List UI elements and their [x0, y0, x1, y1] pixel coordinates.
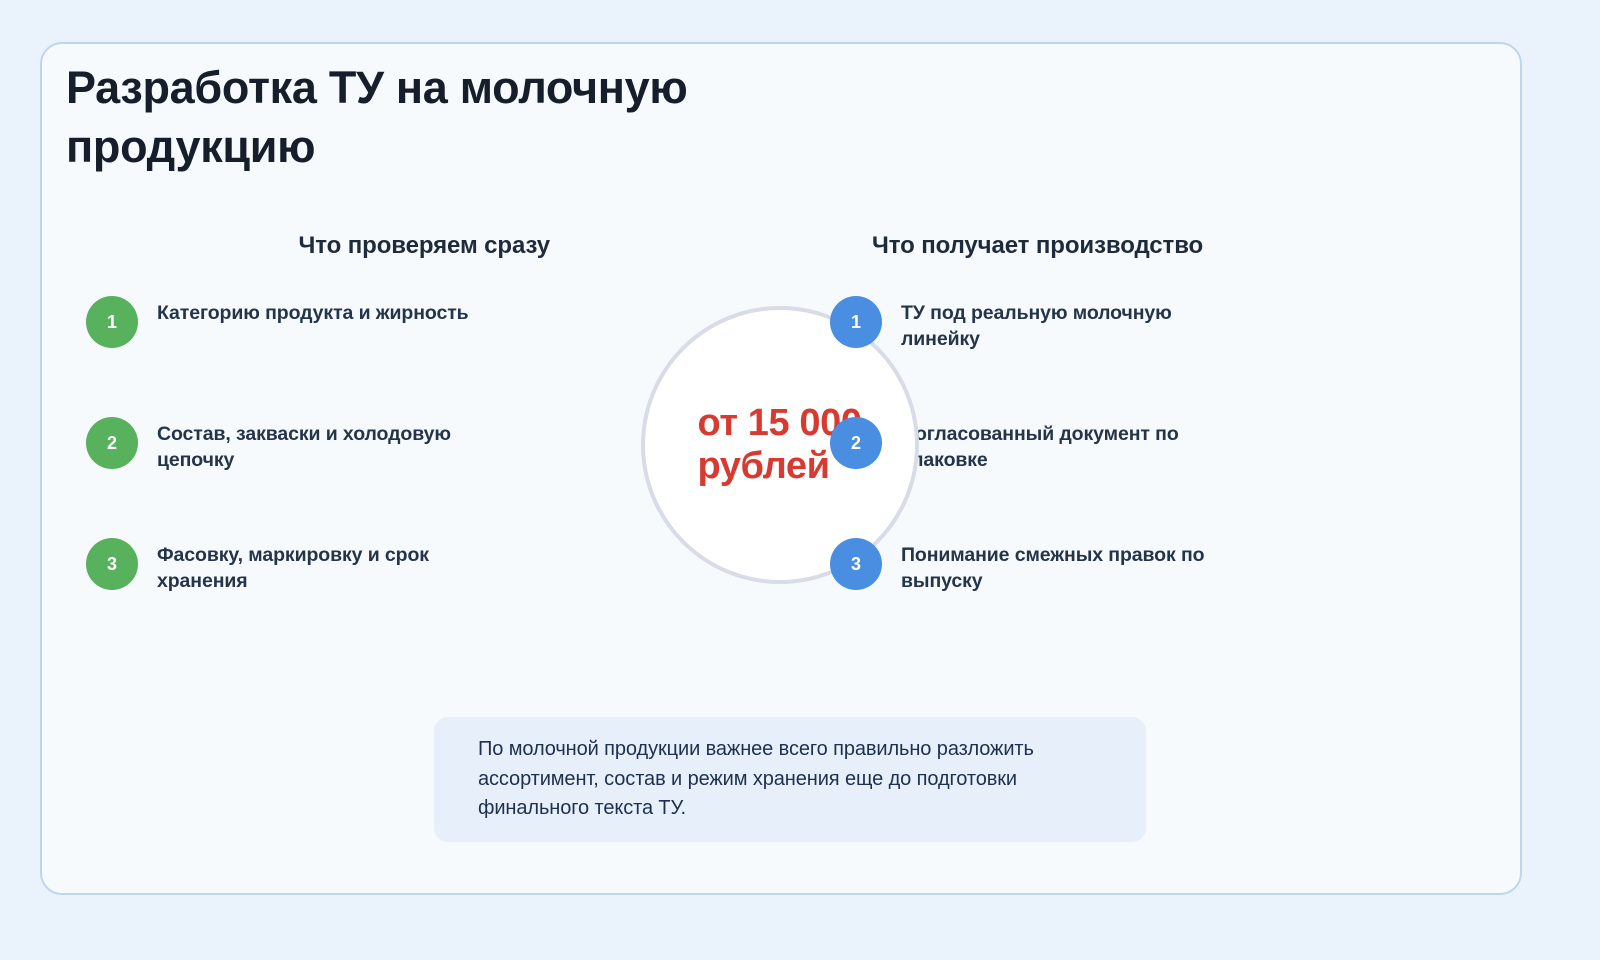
- list-item-label: Понимание смежных правок по выпуску: [882, 532, 1242, 594]
- list-item-label: Согласованный документ по упаковке: [882, 411, 1242, 473]
- result-badge-1: 1: [830, 296, 882, 348]
- column-left-heading: Что проверяем сразу: [68, 232, 588, 268]
- list-item-label: Состав, закваски и холодовую цепочку: [138, 411, 498, 473]
- list-item: 3 Понимание смежных правок по выпуску: [830, 532, 1350, 653]
- list-item-label: ТУ под реальную молочную линейку: [882, 290, 1242, 352]
- step-badge-2: 2: [86, 417, 138, 469]
- step-badge-3: 3: [86, 538, 138, 590]
- list-item: 2 Состав, закваски и холодовую цепочку: [68, 411, 588, 532]
- list-item: 1 Категорию продукта и жирность: [68, 290, 588, 411]
- page-title: Разработка ТУ на молочную продукцию: [66, 58, 786, 177]
- column-left-items: 1 Категорию продукта и жирность 2 Состав…: [68, 290, 588, 653]
- list-item-label: Фасовку, маркировку и срок хранения: [138, 532, 498, 594]
- column-left: Что проверяем сразу 1 Категорию продукта…: [68, 232, 588, 653]
- column-right-heading: Что получает производство: [830, 232, 1350, 268]
- summary-note-text: По молочной продукции важнее всего прави…: [434, 735, 1146, 824]
- list-item-label: Категорию продукта и жирность: [138, 290, 469, 326]
- list-item: 3 Фасовку, маркировку и срок хранения: [68, 532, 588, 653]
- result-badge-3: 3: [830, 538, 882, 590]
- step-badge-1: 1: [86, 296, 138, 348]
- result-badge-2: 2: [830, 417, 882, 469]
- summary-note: По молочной продукции важнее всего прави…: [434, 717, 1146, 842]
